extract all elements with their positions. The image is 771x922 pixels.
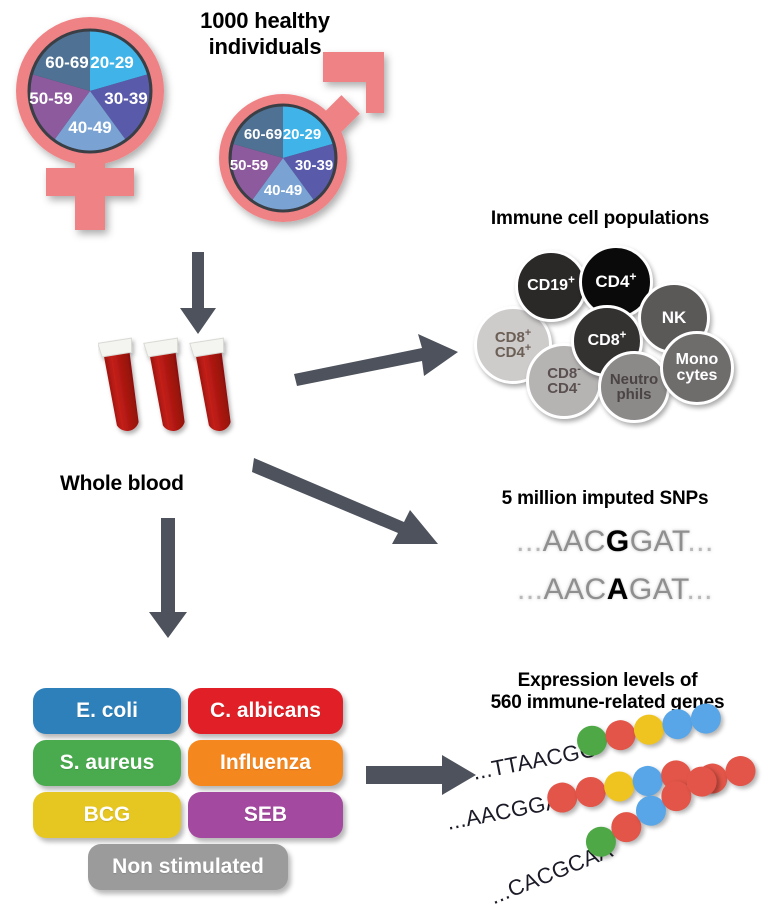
pie-label-60-69: 60-69	[45, 53, 88, 72]
stim-label: BCG	[84, 803, 131, 827]
pie-label-40-49: 40-49	[68, 118, 111, 137]
arrow-blood-to-snps	[252, 448, 442, 558]
diagram-canvas: 1000 healthy individuals	[0, 0, 771, 922]
stim-box-non-stimulated[interactable]: Non stimulated	[88, 844, 288, 890]
bead	[573, 774, 608, 809]
snp-prefix: ...	[516, 525, 543, 558]
stim-label: SEB	[244, 803, 287, 827]
pie-label-20-29: 20-29	[283, 126, 321, 143]
pie-label-30-39: 30-39	[104, 89, 147, 108]
snp-after: GAT	[629, 573, 687, 606]
snp-before: AAC	[543, 525, 606, 558]
cell-cd19-positive: CD19+	[515, 250, 587, 322]
pie-label-50-59: 50-59	[29, 89, 72, 108]
snp-suffix: ...	[687, 525, 714, 558]
expression-title: Expression levels of 560 immune-related …	[450, 670, 765, 715]
female-symbol: 20-29 30-39 40-49 50-59 60-69	[4, 8, 194, 238]
immune-cell-populations-title: Immune cell populations	[440, 208, 760, 230]
stim-label: Non stimulated	[112, 855, 264, 879]
bead	[723, 753, 758, 788]
stim-box-s-aureus[interactable]: S. aureus	[33, 740, 181, 786]
pie-label-40-49: 40-49	[264, 182, 302, 199]
arrow-cohort-to-blood	[178, 252, 218, 336]
gene-expression-strands: ...TTAACGG ...AACGGAT ...CACGCAA	[455, 735, 771, 910]
cell-monocytes: Monocytes	[660, 331, 734, 405]
snp-sequences: ...AACGGAT... ...AACAGAT...	[470, 525, 760, 620]
whole-blood-label: Whole blood	[60, 472, 260, 497]
snp-prefix: ...	[517, 573, 544, 606]
expression-title-line1: Expression levels of	[450, 670, 765, 692]
bead	[631, 712, 666, 747]
pie-label-50-59: 50-59	[230, 157, 268, 174]
arrow-blood-to-stimulation	[148, 518, 188, 640]
bead	[603, 718, 638, 753]
stim-box-e-coli[interactable]: E. coli	[33, 688, 181, 734]
arrow-blood-to-immune-cells	[292, 330, 462, 390]
bead	[630, 763, 665, 798]
snp-suffix: ...	[686, 573, 713, 606]
snp-after: GAT	[630, 525, 688, 558]
stim-box-influenza[interactable]: Influenza	[188, 740, 343, 786]
stim-label: S. aureus	[60, 751, 155, 775]
blood-tubes	[98, 330, 258, 475]
snp-sequence-row-2: ...AACAGAT...	[470, 573, 760, 607]
stim-box-bcg[interactable]: BCG	[33, 792, 181, 838]
pie-label-60-69: 60-69	[244, 126, 282, 143]
male-symbol: 20-29 30-39 40-49 50-59 60-69	[208, 48, 408, 248]
snp-variant-allele: A	[607, 573, 629, 606]
bead	[602, 769, 637, 804]
stim-box-seb[interactable]: SEB	[188, 792, 343, 838]
stim-label: Influenza	[220, 751, 311, 775]
stim-label: E. coli	[76, 699, 138, 723]
stim-box-c-albicans[interactable]: C. albicans	[188, 688, 343, 734]
cell-neutrophils: Neutrophils	[598, 351, 670, 423]
pie-label-20-29: 20-29	[90, 53, 133, 72]
pie-label-30-39: 30-39	[295, 157, 333, 174]
stim-label: C. albicans	[210, 699, 321, 723]
snp-variant-allele: G	[606, 525, 630, 558]
snp-before: AAC	[544, 573, 607, 606]
snp-sequence-row-1: ...AACGGAT...	[470, 525, 760, 559]
snps-title: 5 million imputed SNPs	[450, 488, 760, 510]
immune-cell-population-cluster: CD8+CD4+ CD8-CD4- CD19+ CD4+ CD8+ Neutro…	[466, 243, 766, 418]
